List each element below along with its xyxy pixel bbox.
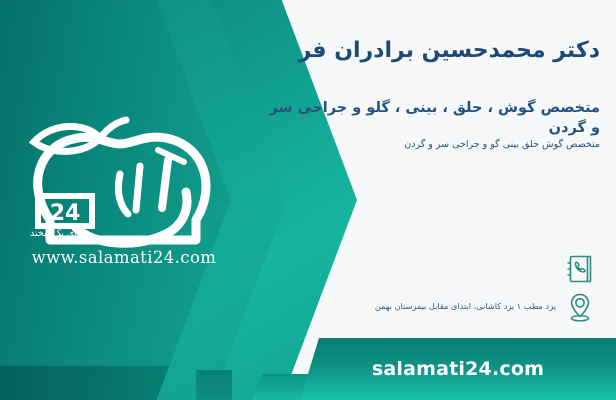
- map-pin-icon[interactable]: [566, 292, 594, 322]
- chevron-notch-left: [196, 370, 232, 400]
- footer-website[interactable]: salamati24.com: [300, 338, 616, 400]
- svg-text:24: 24: [50, 201, 81, 226]
- clinic-address: یزد مطب ۱ یزد کاشانی، ابتدای مقابل بیمرس…: [256, 300, 556, 312]
- doctor-specialty-main: متخصص گوش ، حلق ، بینی ، گلو و جراحی سر …: [260, 98, 600, 138]
- phonebook-icon[interactable]: [566, 254, 594, 284]
- doctor-profile-card: 24 برای یک لبخند www.salamati24.com دکتر…: [0, 0, 616, 400]
- logo-tagline: برای یک لبخند: [16, 228, 232, 239]
- doctor-specialty-sub: متخصص گوش حلق بینی گو و جراحی سر و گردن: [260, 138, 600, 151]
- doctor-name: دکتر محمدحسین برادران فر: [298, 38, 600, 63]
- salamati24-logo: 24 برای یک لبخند www.salamati24.com: [16, 100, 232, 275]
- logo-website-url: www.salamati24.com: [16, 248, 232, 267]
